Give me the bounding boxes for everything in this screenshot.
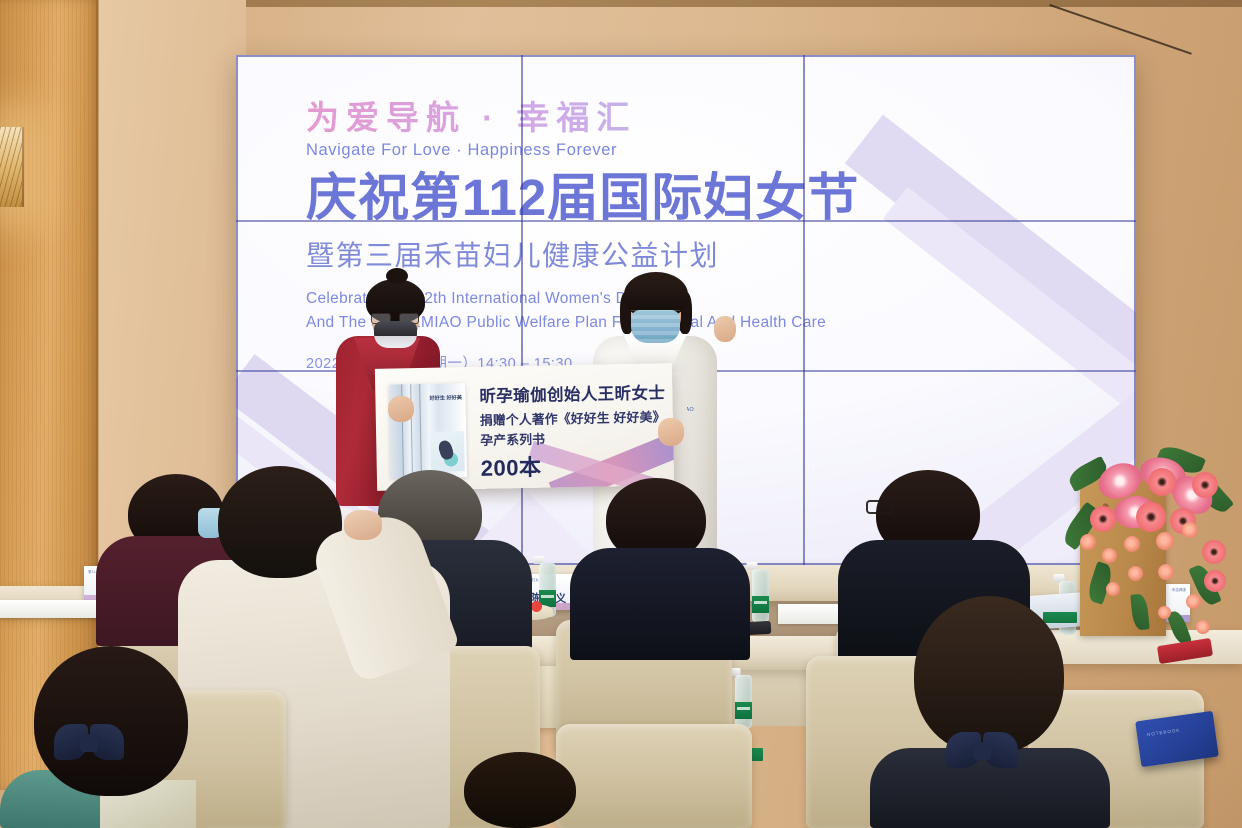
rose-11 [1158, 606, 1171, 619]
screenshot-root: 为爱导航 · 幸福汇 Navigate For Love · Happiness… [0, 0, 1242, 828]
book-cover-figure [430, 431, 465, 472]
gerbera-3 [1136, 502, 1166, 532]
presenter-left-face-mask [374, 321, 417, 348]
board-line-2: 捐赠个人著作《好好生 好好美》 [480, 406, 666, 429]
audience-1-hair-bow [54, 718, 124, 768]
rose-10 [1196, 620, 1210, 634]
cherry-tomato-1 [531, 601, 542, 612]
presenter-left-hair-bun [386, 268, 408, 284]
rose-4 [1156, 532, 1174, 550]
rose-7 [1158, 564, 1174, 580]
flower-arrangement [1062, 424, 1242, 674]
rose-1 [1080, 534, 1096, 550]
board-quantity: 200本 [480, 450, 541, 483]
presenter-right-face-mask [631, 310, 680, 343]
notebook-emboss: NOTEBOOK [1147, 727, 1181, 737]
wall-sconce-light [0, 127, 24, 207]
rose-9 [1186, 594, 1201, 609]
rose-8 [1106, 582, 1120, 596]
gerbera-4 [1090, 506, 1116, 532]
gerbera-6 [1202, 540, 1226, 564]
presenter-right-hand-raised [714, 316, 736, 342]
gerbera-7 [1204, 570, 1226, 592]
audience-7-hair-bow [946, 726, 1018, 776]
audience-2-hand [344, 510, 382, 540]
rose-6 [1128, 566, 1143, 581]
presenter-right-hand [658, 418, 684, 446]
audience-9-head [464, 752, 576, 828]
sconce-slats [0, 127, 22, 207]
board-line-1: 昕孕瑜伽创始人王昕女士 [479, 379, 665, 407]
rose-3 [1124, 536, 1140, 552]
presenter-left-hand [388, 396, 414, 422]
gerbera-1 [1148, 468, 1176, 496]
audience-6-eyeglasses [866, 500, 894, 514]
chair-front-4 [556, 724, 752, 828]
gerbera-2 [1192, 472, 1218, 498]
rose-5 [1182, 522, 1198, 538]
board-line-3: 孕产系列书 [480, 429, 545, 449]
audience-5-shoulders [570, 548, 750, 660]
book-cover-title: 好好生 好好美 [429, 395, 463, 402]
rose-2 [1102, 548, 1117, 563]
